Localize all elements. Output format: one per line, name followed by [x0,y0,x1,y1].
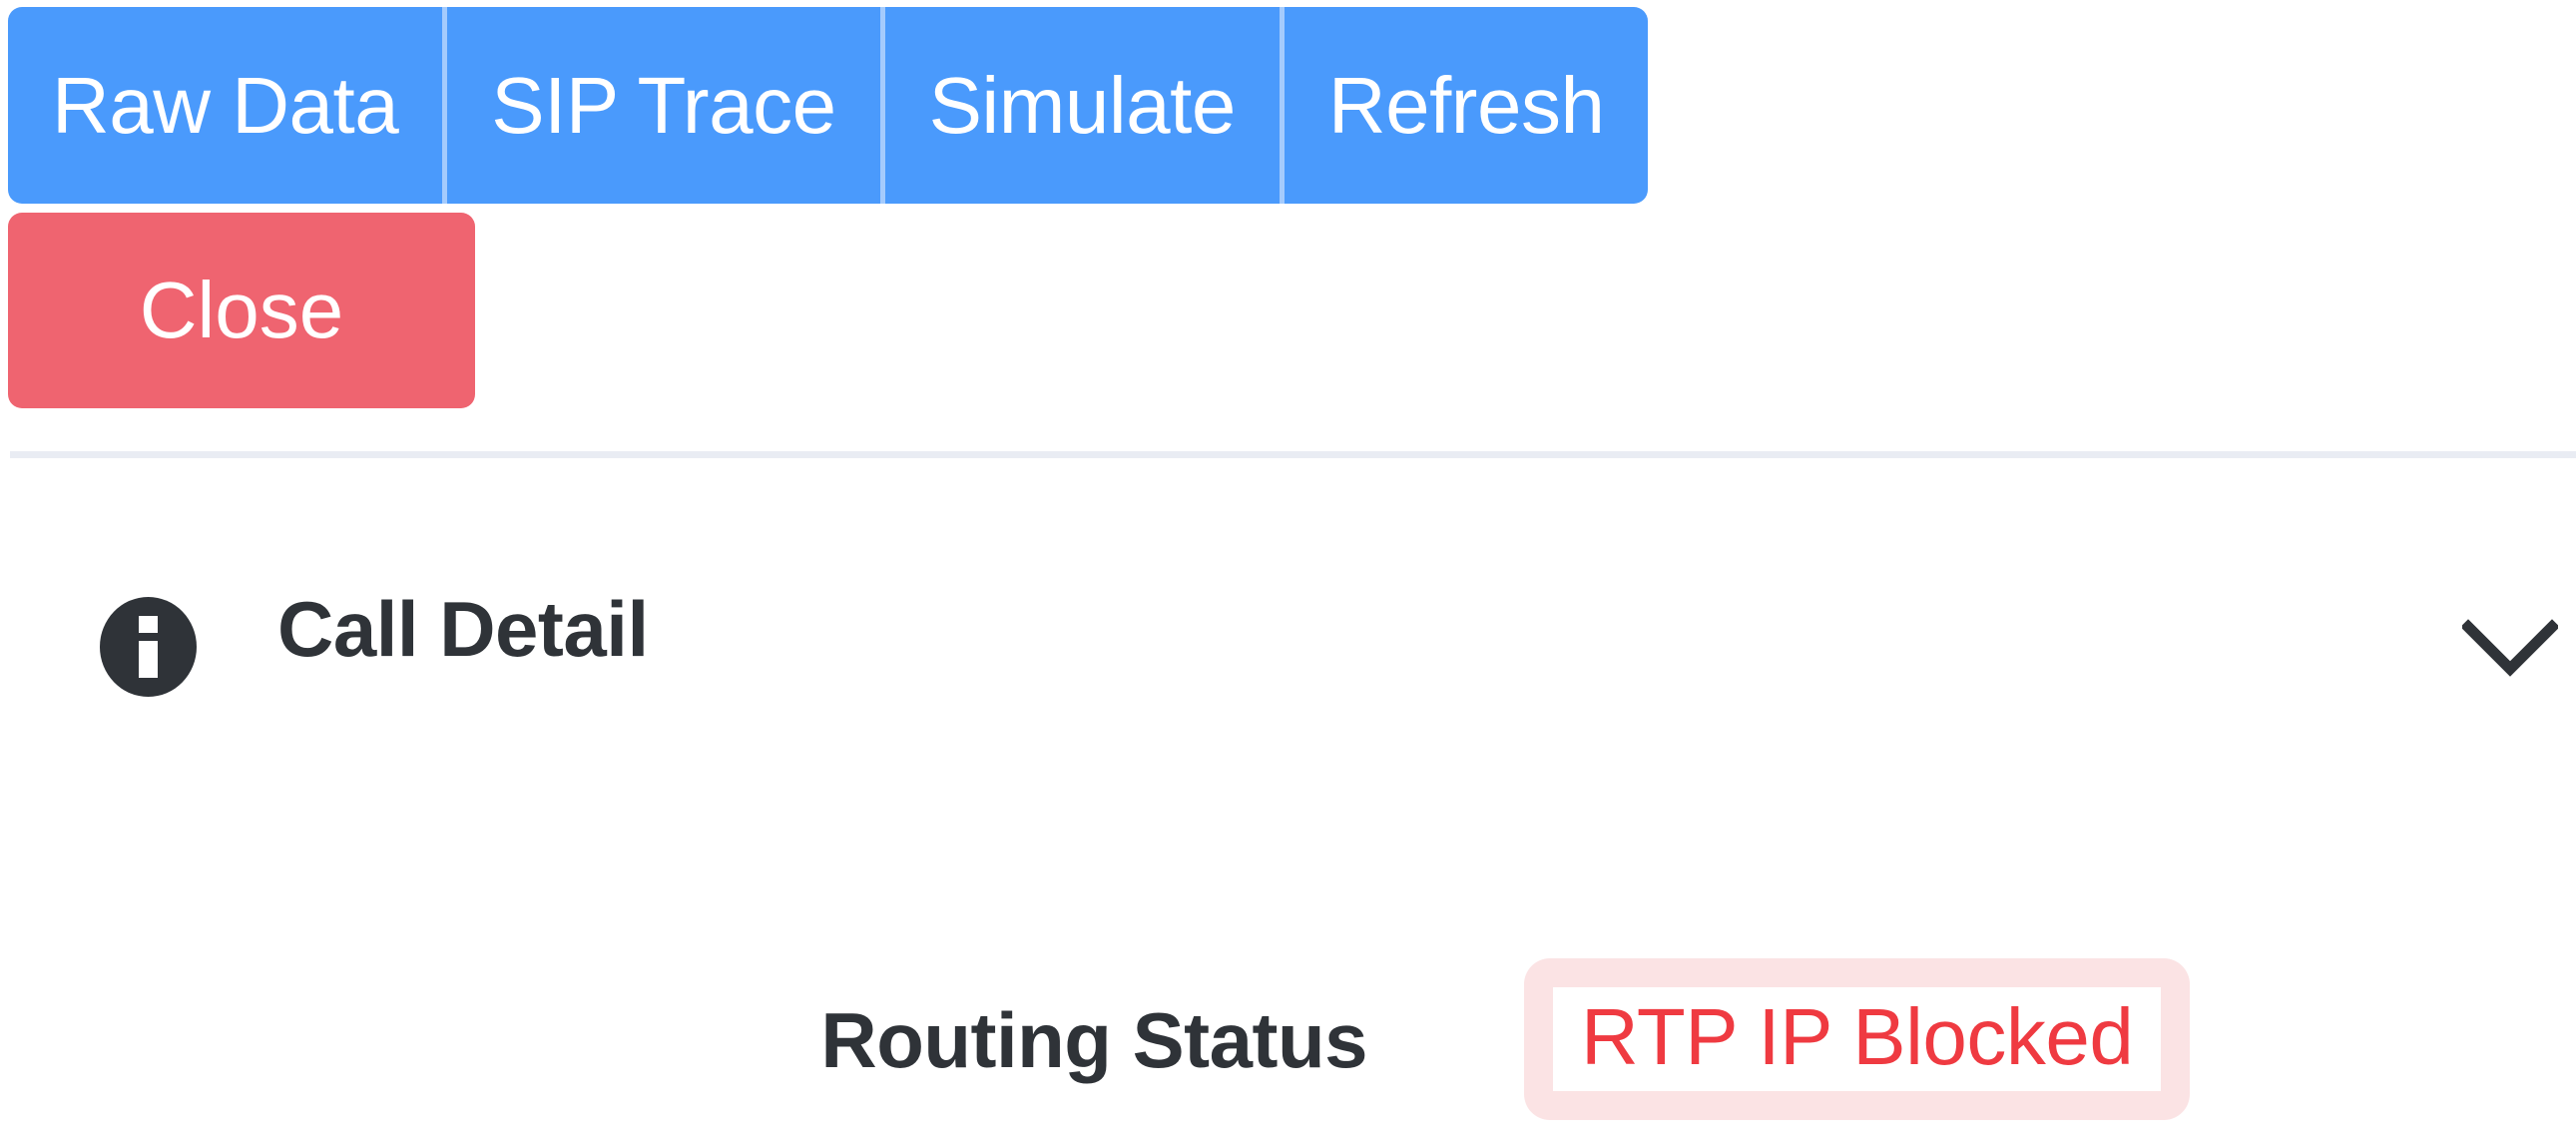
chevron-down-icon[interactable] [2462,619,2558,679]
sip-trace-button[interactable]: SIP Trace [442,7,879,204]
routing-status-label: Routing Status [820,948,1367,1133]
info-circle-icon [100,597,197,697]
simulate-button[interactable]: Simulate [880,7,1280,204]
call-detail-section-header[interactable]: Call Detail [0,559,2576,739]
status-badge: RTP IP Blocked [1524,958,2190,1120]
close-button[interactable]: Close [8,213,475,408]
routing-status-row: Routing Status RTP IP Blocked [0,948,2576,1140]
raw-data-button[interactable]: Raw Data [8,7,442,204]
refresh-button[interactable]: Refresh [1280,7,1649,204]
page-title: Call Detail [277,559,649,699]
horizontal-divider [10,451,2576,458]
toolbar-button-group: Raw Data SIP Trace Simulate Refresh [8,7,1648,204]
